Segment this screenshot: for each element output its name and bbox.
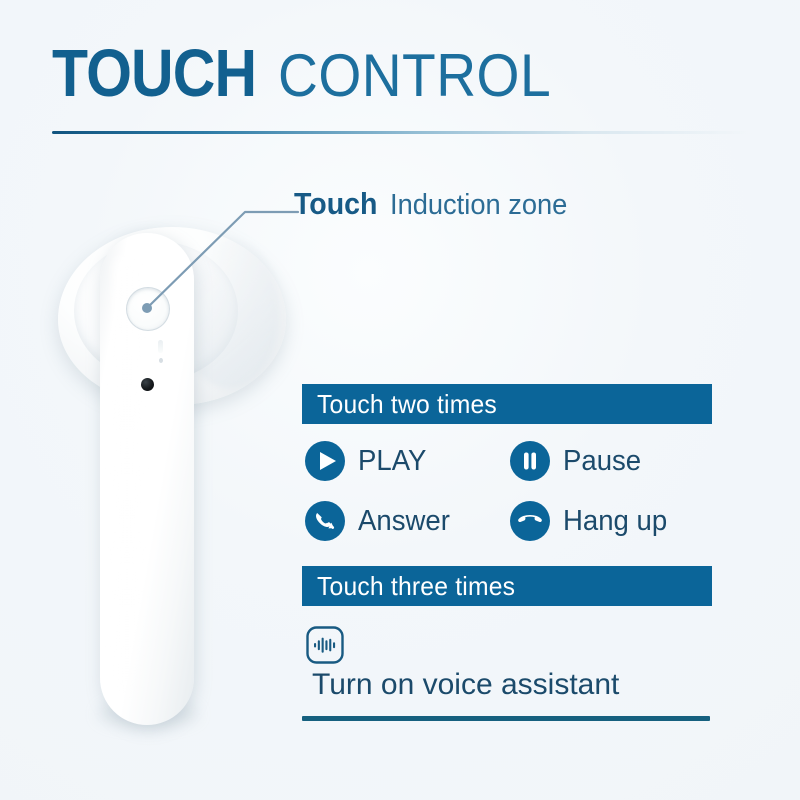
section-heading-label: Touch two times	[317, 389, 497, 420]
section-spacer	[302, 544, 712, 566]
callout-label: Touch Induction zone	[294, 188, 579, 220]
action-answer[interactable]: Answer	[302, 498, 507, 544]
callout-label-regular: Induction zone	[390, 191, 567, 220]
control-panel: Touch two times PLAY	[302, 384, 712, 721]
action-play[interactable]: PLAY	[302, 438, 507, 484]
earbud-illustration	[40, 215, 300, 735]
section-heading-touch-three-times: Touch three times	[302, 566, 712, 606]
play-icon	[302, 438, 348, 484]
touch-induction-ring	[126, 287, 170, 331]
touch-control-infographic: TOUCHCONTROL Touch Induction zone Touch …	[0, 0, 800, 800]
ear-tip-shading	[180, 239, 280, 389]
action-row-answer-hangup: Answer Hang up	[302, 498, 712, 544]
action-voice-assistant[interactable]: Turn on voice assistant	[302, 622, 619, 702]
action-voice-assistant-label: Turn on voice assistant	[312, 668, 619, 701]
action-hangup-label: Hang up	[563, 505, 667, 538]
panel-bottom-divider	[302, 716, 710, 721]
voice-assistant-icon	[302, 622, 348, 668]
section-heading-touch-two-times: Touch two times	[302, 384, 712, 424]
page-title-light: CONTROL	[278, 46, 551, 106]
section-heading-label: Touch three times	[317, 571, 515, 602]
action-row-play-pause: PLAY Pause	[302, 438, 712, 484]
action-answer-label: Answer	[358, 505, 450, 538]
page-title: TOUCHCONTROL	[52, 40, 575, 107]
led-indicator	[159, 358, 163, 363]
callout-label-strong: Touch	[294, 188, 377, 219]
pause-icon	[507, 438, 553, 484]
action-row-voice-assistant: Turn on voice assistant	[302, 622, 712, 702]
microphone-hole	[141, 378, 154, 391]
answer-call-icon	[302, 498, 348, 544]
action-pause-label: Pause	[563, 445, 641, 478]
action-hangup[interactable]: Hang up	[507, 498, 712, 544]
header-divider	[52, 131, 752, 134]
action-play-label: PLAY	[358, 445, 426, 478]
action-pause[interactable]: Pause	[507, 438, 712, 484]
hang-up-icon	[507, 498, 553, 544]
led-indicator-slot	[158, 340, 163, 353]
page-title-bold: TOUCH	[52, 40, 256, 107]
